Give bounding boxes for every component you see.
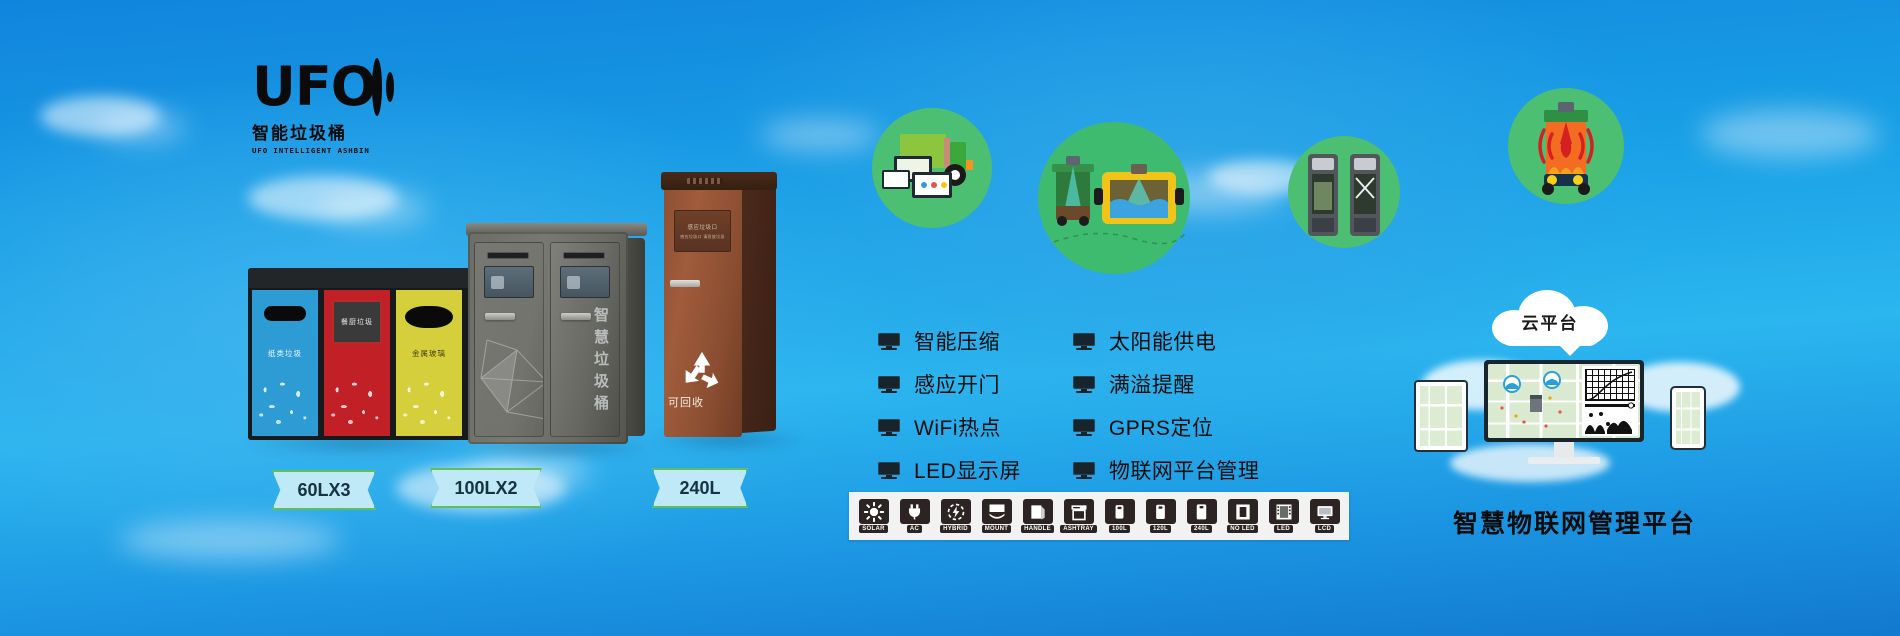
bin-120l-icon	[1146, 499, 1176, 524]
cloud-platform-tag: 云平台	[1492, 288, 1608, 346]
ashtray-icon	[1064, 499, 1094, 524]
two-smart-bins-icon	[1288, 136, 1400, 248]
feature-label: 物联网平台管理	[1109, 455, 1260, 485]
logo-wordmark: UFO	[252, 61, 376, 113]
spec-caption: LED	[1274, 525, 1293, 533]
three-color-recycling-bin: 纸类垃圾 餐厨垃圾 金属玻璃	[248, 268, 470, 440]
cloud-tag-label: 云平台	[1492, 288, 1608, 346]
feature-item: 智能压缩	[878, 326, 1021, 356]
brand-logo: UFO 智能垃圾桶 UFO INTELLIGENT ASHBIN	[252, 58, 364, 155]
double-smart-bin-grey: 智慧垃圾桶	[468, 232, 628, 444]
feature-label: 感应开门	[914, 369, 1000, 399]
cloud-decoration	[120, 520, 340, 560]
dashboard-charts	[1582, 366, 1638, 436]
led-panel-icon	[1269, 499, 1299, 524]
lcd-screen-icon	[1310, 499, 1340, 524]
bin-cell-paper: 纸类垃圾	[252, 290, 318, 436]
bin-fire-alarm-icon	[1508, 88, 1624, 204]
fill-level-sensor-circle	[1038, 122, 1190, 274]
feature-label: 智能压缩	[914, 326, 1000, 356]
power-plug-icon	[900, 499, 930, 524]
sun-icon	[859, 499, 889, 524]
lcd-screen-icon	[484, 266, 534, 298]
feature-label: 满溢提醒	[1109, 369, 1195, 399]
monitor-icon	[878, 419, 900, 436]
waste-slot-icon	[264, 306, 306, 321]
feature-label: WiFi热点	[914, 412, 1001, 442]
litter-graphic	[252, 366, 318, 436]
waste-display-panel: 餐厨垃圾	[332, 300, 382, 344]
screen-subtitle: 感应垃圾口 请投放垃圾	[680, 234, 724, 240]
spec-item-ashtray[interactable]: ASHTRAY	[1058, 499, 1099, 533]
spec-item-led[interactable]: LED	[1263, 499, 1304, 533]
monitor-icon	[878, 333, 900, 350]
bin-door-right[interactable]: 智慧垃圾桶	[550, 242, 620, 437]
feature-column-right: 太阳能供电 满溢提醒 GPRS定位 物联网平台管理	[1073, 326, 1260, 485]
fire-alarm-circle	[1508, 88, 1624, 204]
feature-item: 物联网平台管理	[1073, 455, 1260, 485]
spec-item-solar[interactable]: SOLAR	[853, 499, 894, 533]
logo-chinese-name: 智能垃圾桶	[252, 119, 364, 144]
spec-caption: AC	[907, 525, 922, 533]
cloud-decoration	[1700, 110, 1880, 158]
hybrid-power-icon	[941, 499, 971, 524]
tablet-map-view	[1420, 386, 1462, 446]
recycle-icon	[680, 350, 724, 390]
spec-item-240l[interactable]: 240L	[1181, 499, 1222, 533]
desktop-monitor	[1484, 360, 1644, 442]
spec-item-no-led[interactable]: NO LED	[1222, 499, 1263, 533]
led-strip-icon	[563, 252, 605, 259]
no-led-panel-icon	[1228, 499, 1258, 524]
ultrasonic-fill-sensor-bins-icon	[1038, 122, 1190, 274]
spec-item-handle[interactable]: HANDLE	[1017, 499, 1058, 533]
feature-label: GPRS定位	[1109, 412, 1214, 442]
spec-caption: HANDLE	[1021, 525, 1054, 533]
feature-label: 太阳能供电	[1109, 326, 1217, 356]
smart-bin-pair-circle	[1288, 136, 1400, 248]
door-handle-icon[interactable]	[485, 313, 515, 320]
door-handle-icon[interactable]	[670, 280, 700, 287]
map-markers	[1488, 364, 1592, 438]
spec-item-mount[interactable]: MOUNT	[976, 499, 1017, 533]
tablet-device	[1414, 380, 1468, 452]
fleet-monitoring-circle	[872, 108, 992, 228]
bin-door-left[interactable]	[474, 242, 544, 437]
bin-vertical-text: 智慧垃圾桶	[592, 305, 612, 415]
monitor-screen	[1488, 364, 1640, 438]
feature-item: LED显示屏	[878, 455, 1021, 485]
spec-item-hybrid[interactable]: HYBRID	[935, 499, 976, 533]
feature-item: GPRS定位	[1073, 412, 1260, 442]
spec-caption: NO LED	[1227, 525, 1257, 533]
cloud-decoration	[96, 112, 186, 142]
litter-graphic	[396, 366, 462, 436]
bin-cell-label: 纸类垃圾	[252, 348, 318, 359]
monitor-base	[1528, 457, 1600, 464]
handle-icon	[1023, 499, 1053, 524]
spec-caption: 120L	[1150, 525, 1171, 533]
door-handle-icon[interactable]	[561, 313, 591, 320]
screen-title: 感应垃圾口	[687, 223, 717, 231]
lcd-screen-icon	[560, 266, 610, 298]
capacity-text: 100LX2	[454, 478, 517, 499]
feature-label: LED显示屏	[914, 455, 1021, 485]
phone-map-view	[1676, 392, 1700, 444]
bin-cell-kitchen: 餐厨垃圾	[324, 290, 390, 436]
bin-240l-icon	[1187, 499, 1217, 524]
spec-caption: LCD	[1315, 525, 1334, 533]
bin-lid	[248, 268, 470, 288]
bin-cell-metal-glass: 金属玻璃	[396, 290, 462, 436]
monitor-icon	[878, 376, 900, 393]
waste-slot-icon	[405, 306, 453, 328]
monitor-icon	[1073, 462, 1095, 479]
spec-caption: ASHTRAY	[1060, 525, 1097, 533]
bin-cell-label: 金属玻璃	[396, 348, 462, 359]
capacity-text: 60LX3	[297, 480, 350, 501]
monitor-neck	[1554, 442, 1574, 458]
polygon-graphic	[477, 320, 544, 430]
feature-item: 太阳能供电	[1073, 326, 1260, 356]
platform-title: 智慧物联网管理平台	[1453, 504, 1696, 540]
iot-dashboard-illustration	[1412, 350, 1712, 500]
monitor-icon	[878, 462, 900, 479]
bearing-ring-icon	[372, 58, 382, 116]
spec-item-100l[interactable]: 100L	[1099, 499, 1140, 533]
feature-item: 满溢提醒	[1073, 369, 1260, 399]
bin-front-label: 可回收	[664, 394, 708, 410]
feature-item: WiFi热点	[878, 412, 1021, 442]
brown-smart-bin-240l: 感应垃圾口 感应垃圾口 请投放垃圾 可回收	[664, 172, 742, 437]
monitor-icon	[1073, 419, 1095, 436]
spec-item-ac[interactable]: AC	[894, 499, 935, 533]
bin-100l-icon	[1105, 499, 1135, 524]
sensor-display-screen: 感应垃圾口 感应垃圾口 请投放垃圾	[674, 210, 731, 252]
vent-icon	[687, 178, 723, 184]
cloud-decoration	[760, 120, 880, 150]
feature-list: 智能压缩 感应开门 WiFi热点 LED显示屏 太阳能供电 满溢提醒	[878, 326, 1259, 485]
cloud-decoration	[318, 192, 428, 226]
feature-item: 感应开门	[878, 369, 1021, 399]
spec-caption: 100L	[1109, 525, 1130, 533]
spec-item-lcd[interactable]: LCD	[1304, 499, 1345, 533]
spec-caption: SOLAR	[859, 525, 888, 533]
spec-caption: MOUNT	[982, 525, 1012, 533]
capacity-label-100lx2: 100LX2	[430, 468, 542, 508]
monitor-icon	[1073, 376, 1095, 393]
garbage-truck-with-monitors-icon	[872, 108, 992, 228]
feature-column-left: 智能压缩 感应开门 WiFi热点 LED显示屏	[878, 326, 1021, 485]
smartphone-device	[1670, 386, 1706, 450]
spec-icon-strip: SOLAR AC HYBRID MOUNT	[849, 492, 1349, 540]
capacity-text: 240L	[679, 478, 720, 499]
banner-stage: UFO 智能垃圾桶 UFO INTELLIGENT ASHBIN 纸类垃圾 餐厨…	[0, 0, 1900, 636]
monitor-icon	[1073, 333, 1095, 350]
spec-caption: 240L	[1191, 525, 1212, 533]
spec-item-120l[interactable]: 120L	[1140, 499, 1181, 533]
capacity-label-60lx3: 60LX3	[272, 470, 376, 510]
logo-english-tagline: UFO INTELLIGENT ASHBIN	[252, 146, 364, 155]
bin-cell-label: 餐厨垃圾	[341, 317, 373, 327]
chart-graphics	[1582, 366, 1638, 436]
spec-caption: HYBRID	[940, 525, 971, 533]
led-strip-icon	[487, 252, 529, 259]
capacity-label-240l: 240L	[652, 468, 748, 508]
litter-graphic	[324, 366, 390, 436]
wall-mount-icon	[982, 499, 1012, 524]
